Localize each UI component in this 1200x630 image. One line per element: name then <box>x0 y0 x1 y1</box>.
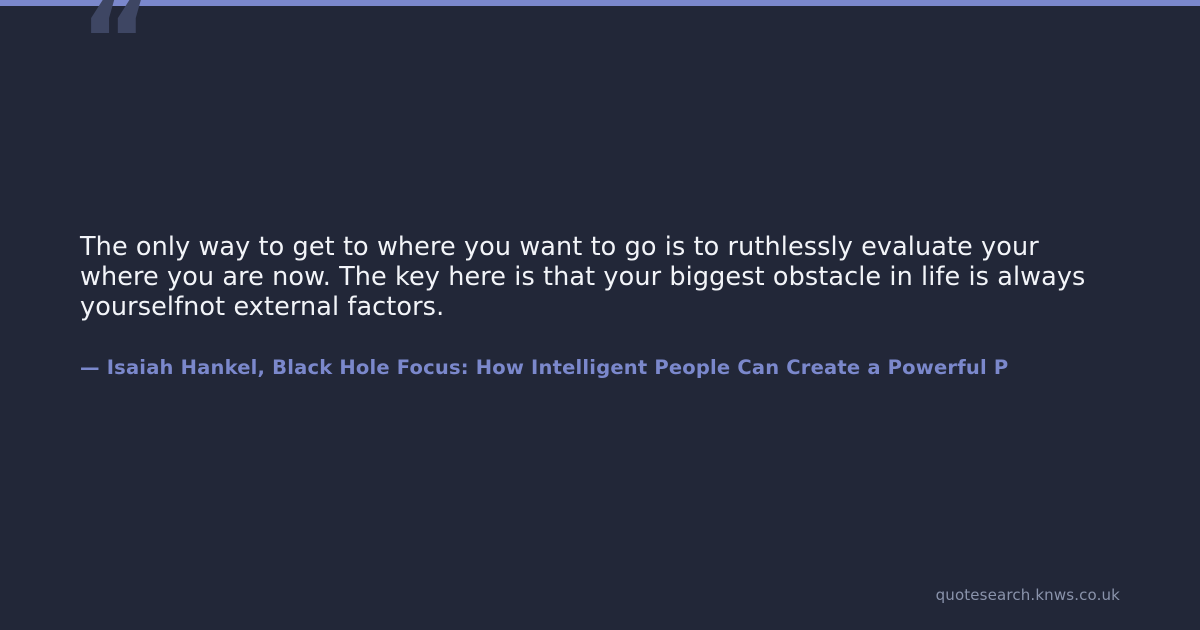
quote-text: The only way to get to where you want to… <box>80 232 1120 322</box>
quote-card: “ The only way to get to where you want … <box>0 6 1200 630</box>
footer-source-url: quotesearch.knws.co.uk <box>936 586 1120 604</box>
quote-body: The only way to get to where you want to… <box>80 232 1120 322</box>
attribution-row: — Isaiah Hankel, Black Hole Focus: How I… <box>80 354 1200 384</box>
open-quote-icon: “ <box>80 0 149 96</box>
quote-attribution: — Isaiah Hankel, Black Hole Focus: How I… <box>80 354 1008 382</box>
